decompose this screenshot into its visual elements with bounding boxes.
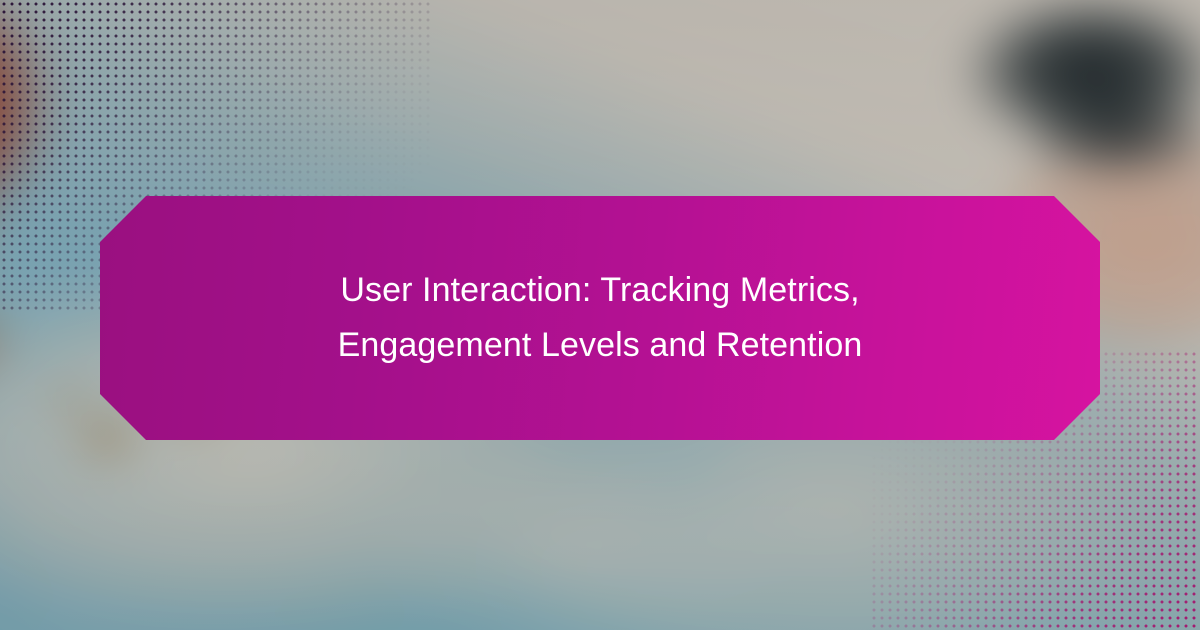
page-title: User Interaction: Tracking Metrics, Enga… [220, 263, 980, 373]
social-share-card: User Interaction: Tracking Metrics, Enga… [0, 0, 1200, 630]
title-banner: User Interaction: Tracking Metrics, Enga… [100, 196, 1100, 440]
